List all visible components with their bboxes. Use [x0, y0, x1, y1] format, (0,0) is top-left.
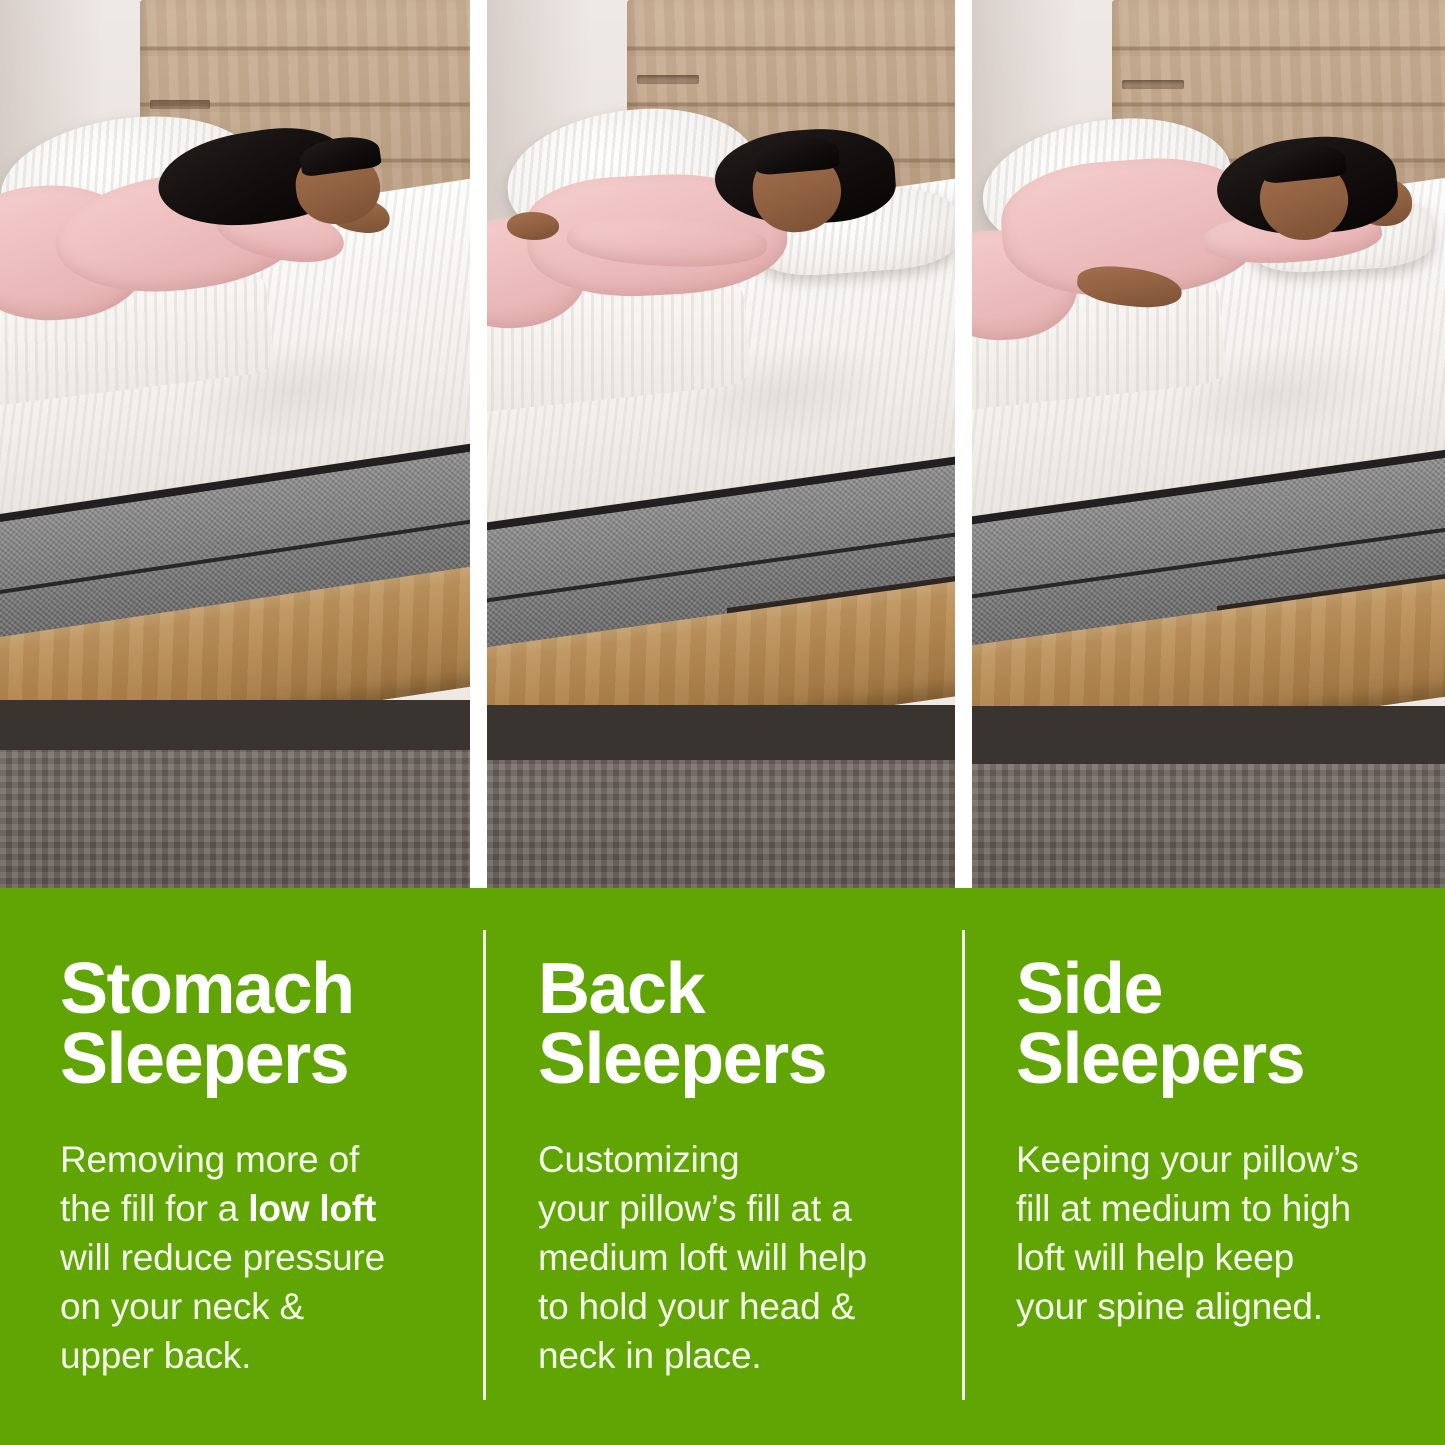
- photo-strip: [0, 0, 1445, 890]
- side-body-before: Keeping your pillow’s fill at medium to …: [1016, 1139, 1359, 1327]
- bedroom-scene-1: [0, 0, 470, 890]
- caption-cards: Stomach Sleepers Removing more of the fi…: [0, 888, 1445, 1445]
- bedroom-scene-2: [487, 0, 955, 890]
- headboard-slot: [637, 75, 699, 84]
- side-sleepers-heading: Side Sleepers: [1016, 955, 1411, 1095]
- caption-card-stomach: Stomach Sleepers Removing more of the fi…: [0, 888, 483, 1445]
- green-caption-band: Stomach Sleepers Removing more of the fi…: [0, 888, 1445, 1445]
- back-body-before: Customizing your pillow’s fill at a medi…: [538, 1139, 867, 1376]
- stomach-sleepers-body: Removing more of the fill for a low loft…: [60, 1135, 443, 1380]
- side-sleeping-photo: [972, 0, 1445, 890]
- bedroom-scene-3: [972, 0, 1445, 890]
- photo-gap-1: [470, 0, 487, 890]
- stomach-sleepers-heading: Stomach Sleepers: [60, 955, 443, 1095]
- stomach-body-emphasis: low loft: [248, 1188, 376, 1229]
- rug: [487, 760, 955, 890]
- rug: [972, 764, 1445, 890]
- side-sleepers-body: Keeping your pillow’s fill at medium to …: [1016, 1135, 1411, 1331]
- caption-card-back: Back Sleepers Customizing your pillow’s …: [483, 888, 962, 1445]
- card-divider-2: [962, 930, 965, 1400]
- back-sleepers-heading: Back Sleepers: [538, 955, 928, 1095]
- rug: [0, 750, 470, 890]
- card-divider-1: [483, 930, 486, 1400]
- stomach-body-after: will reduce pressure on your neck & uppe…: [60, 1237, 385, 1376]
- headboard-slot: [1122, 80, 1184, 89]
- photo-gap-2: [955, 0, 972, 890]
- back-sleeping-photo: [487, 0, 955, 890]
- caption-card-side: Side Sleepers Keeping your pillow’s fill…: [962, 888, 1445, 1445]
- sleeper-position-infographic: Stomach Sleepers Removing more of the fi…: [0, 0, 1445, 1445]
- headboard-slot: [150, 100, 210, 109]
- back-sleepers-body: Customizing your pillow’s fill at a medi…: [538, 1135, 928, 1380]
- hand: [507, 212, 559, 240]
- stomach-sleeping-photo: [0, 0, 470, 890]
